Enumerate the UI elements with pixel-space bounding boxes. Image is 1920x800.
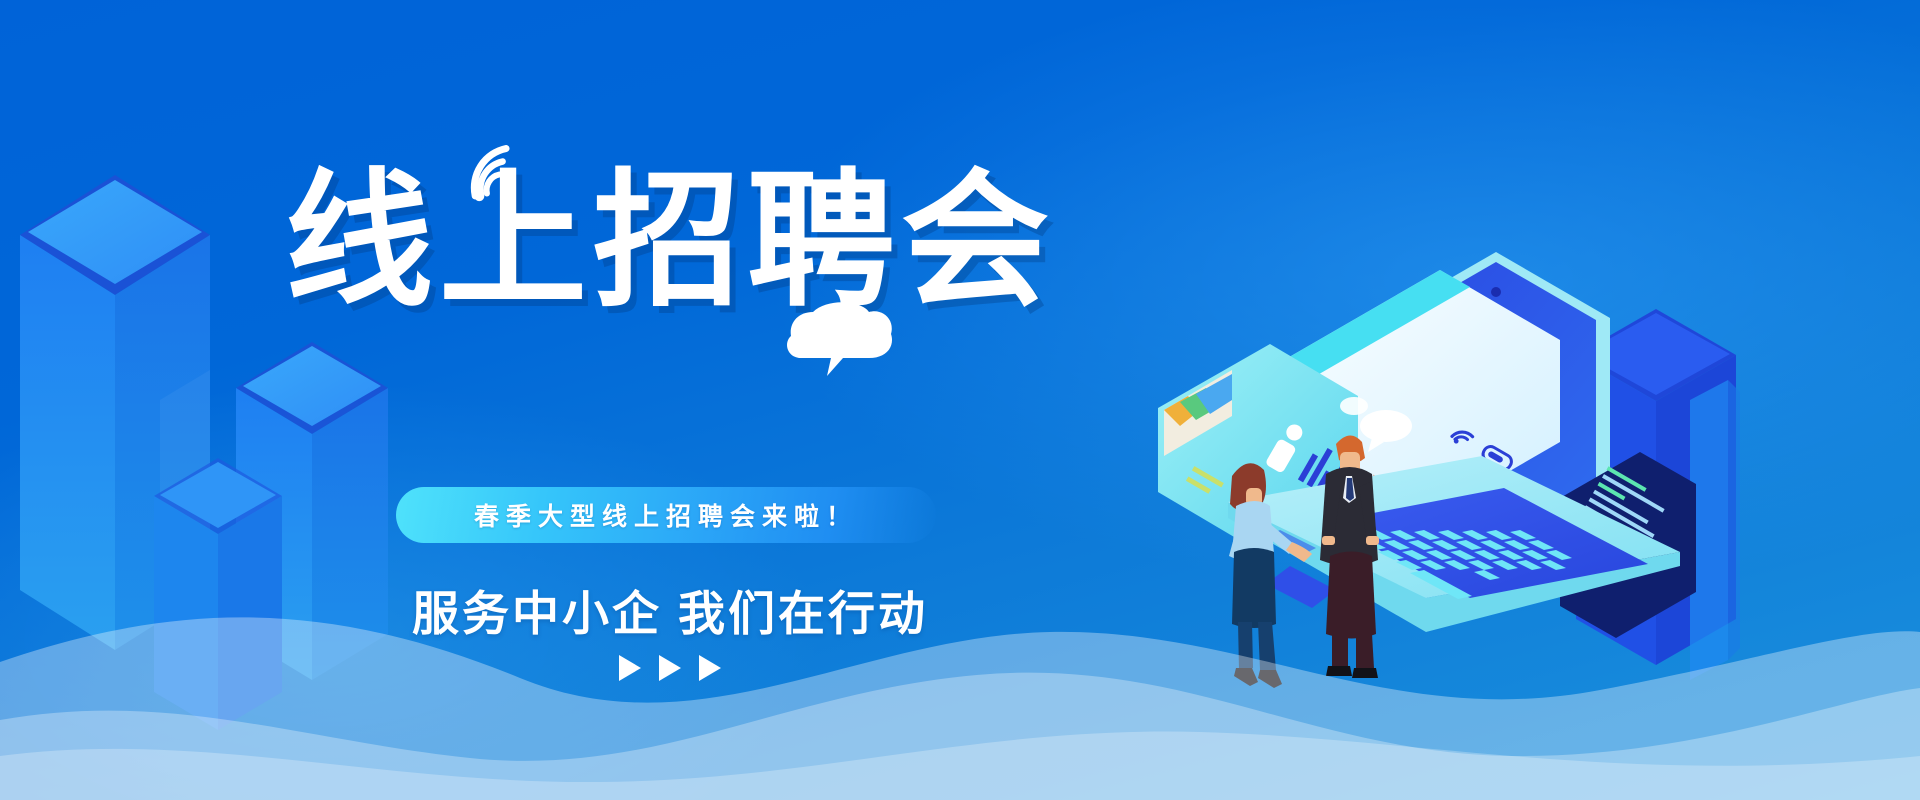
- online-job-fair-banner: 线上招聘会 春季大型线上招聘会来啦！ 服务中小企 我们在行动: [0, 0, 1920, 800]
- page-title: 线上招聘会: [275, 168, 1065, 316]
- subtitle-pill: 春季大型线上招聘会来啦！: [396, 487, 936, 543]
- subtitle-pill-text: 春季大型线上招聘会来啦！: [474, 497, 858, 533]
- page-title-text: 线上招聘会: [285, 159, 1055, 324]
- headline-block: 线上招聘会: [0, 168, 1340, 316]
- cloud-speech-icon: [783, 296, 901, 388]
- wave-decoration: [0, 570, 1920, 800]
- wifi-icon: [455, 138, 528, 210]
